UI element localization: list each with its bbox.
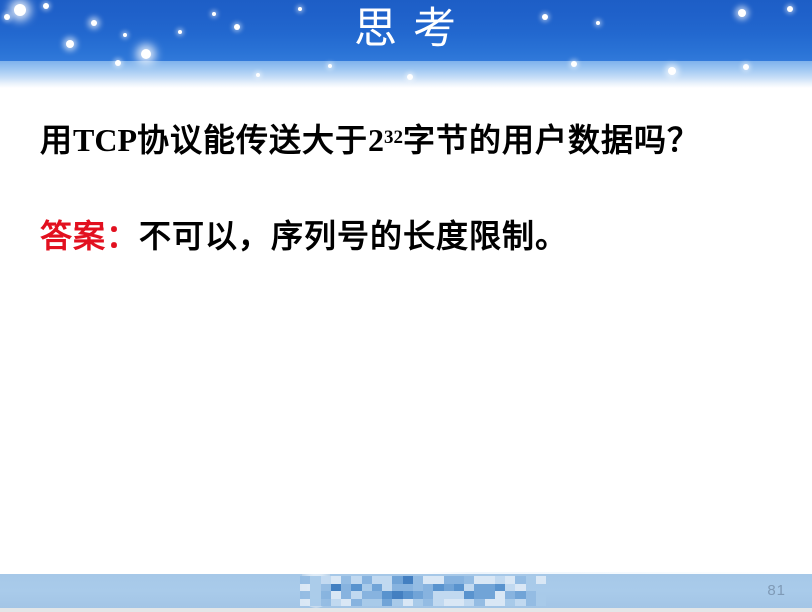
mosaic-pixel bbox=[413, 599, 423, 607]
mosaic-pixel bbox=[310, 576, 320, 584]
mosaic-pixel bbox=[341, 584, 351, 592]
mosaic-pixel bbox=[372, 599, 382, 607]
presentation-slide: 思 考 用TCP协议能传送大于232字节的用户数据吗？ 答案：不可以，序列号的长… bbox=[0, 0, 812, 612]
mosaic-pixel bbox=[403, 576, 413, 584]
mosaic-pixel bbox=[495, 576, 505, 584]
mosaic-pixel bbox=[454, 576, 464, 584]
mosaic-pixel bbox=[341, 576, 351, 584]
mosaic-pixel bbox=[351, 576, 361, 584]
answer-label: 答案： bbox=[40, 218, 139, 254]
mosaic-pixel bbox=[331, 584, 341, 592]
mosaic-pixel bbox=[351, 584, 361, 592]
mosaic-pixel bbox=[464, 576, 474, 584]
mosaic-pixel bbox=[392, 591, 402, 599]
mosaic-pixel bbox=[351, 599, 361, 607]
question-exponent: 32 bbox=[384, 127, 403, 148]
mosaic-pixel bbox=[454, 591, 464, 599]
mosaic-pixel bbox=[474, 591, 484, 599]
mosaic-pixel bbox=[454, 599, 464, 607]
mosaic-pixel bbox=[526, 576, 536, 584]
mosaic-pixel bbox=[372, 576, 382, 584]
mosaic-pixel bbox=[505, 584, 515, 592]
mosaic-pixel bbox=[474, 599, 484, 607]
slide-title-banner: 思 考 bbox=[0, 0, 812, 88]
mosaic-pixel bbox=[495, 599, 505, 607]
mosaic-pixel bbox=[392, 584, 402, 592]
mosaic-pixel bbox=[536, 576, 546, 584]
mosaic-pixel bbox=[433, 591, 443, 599]
mosaic-pixel bbox=[392, 599, 402, 607]
mosaic-pixel bbox=[321, 591, 331, 599]
mosaic-pixel bbox=[321, 599, 331, 607]
mosaic-pixel bbox=[423, 576, 433, 584]
page-number: 81 bbox=[767, 582, 786, 600]
mosaic-pixel bbox=[331, 599, 341, 607]
mosaic-pixel bbox=[526, 591, 536, 599]
mosaic-pixel bbox=[300, 591, 310, 599]
mosaic-pixel bbox=[372, 584, 382, 592]
mosaic-pixel bbox=[341, 591, 351, 599]
mosaic-pixel bbox=[362, 576, 372, 584]
mosaic-pixel bbox=[392, 576, 402, 584]
mosaic-pixel bbox=[433, 599, 443, 607]
mosaic-pixel bbox=[413, 591, 423, 599]
question-protocol-name: TCP bbox=[73, 122, 137, 158]
mosaic-pixel bbox=[495, 584, 505, 592]
mosaic-pixel bbox=[526, 584, 536, 592]
mosaic-pixel bbox=[444, 584, 454, 592]
mosaic-pixel bbox=[310, 599, 320, 607]
mosaic-pixel bbox=[515, 591, 525, 599]
mosaic-pixel bbox=[505, 599, 515, 607]
mosaic-pixel bbox=[382, 576, 392, 584]
mosaic-pixel bbox=[444, 599, 454, 607]
footer-redacted-branding bbox=[300, 576, 546, 606]
question-base-number: 2 bbox=[368, 122, 384, 158]
mosaic-pixel bbox=[300, 599, 310, 607]
mosaic-pixel bbox=[382, 599, 392, 607]
mosaic-pixel bbox=[485, 591, 495, 599]
mosaic-pixel bbox=[310, 584, 320, 592]
mosaic-pixel bbox=[362, 599, 372, 607]
mosaic-pixel bbox=[505, 591, 515, 599]
mosaic-pixel bbox=[433, 576, 443, 584]
mosaic-pixel bbox=[300, 576, 310, 584]
mosaic-pixel bbox=[464, 591, 474, 599]
banner-horizon-haze bbox=[0, 61, 812, 88]
mosaic-pixel bbox=[536, 591, 546, 599]
mosaic-pixel bbox=[464, 584, 474, 592]
mosaic-pixel bbox=[362, 584, 372, 592]
slide-body: 用TCP协议能传送大于232字节的用户数据吗？ 答案：不可以，序列号的长度限制。 bbox=[0, 88, 812, 574]
mosaic-pixel bbox=[474, 576, 484, 584]
mosaic-pixel bbox=[382, 591, 392, 599]
mosaic-pixel bbox=[310, 591, 320, 599]
mosaic-pixel bbox=[423, 591, 433, 599]
mosaic-pixel bbox=[321, 584, 331, 592]
mosaic-pixel bbox=[362, 591, 372, 599]
mosaic-pixel bbox=[413, 576, 423, 584]
mosaic-pixel bbox=[485, 576, 495, 584]
question-suffix-cjk: 字节的用户数据吗？ bbox=[403, 122, 700, 158]
mosaic-pixel bbox=[331, 591, 341, 599]
mosaic-pixel bbox=[413, 584, 423, 592]
answer-text: 不可以，序列号的长度限制。 bbox=[139, 218, 568, 254]
mosaic-pixel bbox=[474, 584, 484, 592]
mosaic-pixel bbox=[341, 599, 351, 607]
question-line: 用TCP协议能传送大于232字节的用户数据吗？ bbox=[40, 118, 700, 160]
mosaic-pixel bbox=[505, 576, 515, 584]
mosaic-pixel bbox=[423, 599, 433, 607]
mosaic-pixel bbox=[536, 584, 546, 592]
mosaic-pixel bbox=[403, 599, 413, 607]
question-middle-cjk: 协议能传送大于 bbox=[137, 122, 368, 158]
answer-line: 答案：不可以，序列号的长度限制。 bbox=[40, 216, 568, 256]
mosaic-pixel bbox=[382, 584, 392, 592]
mosaic-pixel bbox=[515, 584, 525, 592]
mosaic-pixel bbox=[321, 576, 331, 584]
question-prefix-cjk: 用 bbox=[40, 122, 73, 158]
mosaic-pixel bbox=[331, 576, 341, 584]
mosaic-pixel bbox=[372, 591, 382, 599]
mosaic-pixel bbox=[485, 599, 495, 607]
mosaic-pixel bbox=[433, 584, 443, 592]
mosaic-pixel bbox=[351, 591, 361, 599]
mosaic-pixel bbox=[454, 584, 464, 592]
mosaic-pixel bbox=[495, 591, 505, 599]
mosaic-pixel bbox=[485, 584, 495, 592]
mosaic-pixel bbox=[423, 584, 433, 592]
mosaic-pixel bbox=[403, 591, 413, 599]
mosaic-pixel bbox=[515, 599, 525, 607]
mosaic-pixel bbox=[444, 576, 454, 584]
mosaic-pixel bbox=[464, 599, 474, 607]
page-title: 思 考 bbox=[0, 3, 812, 55]
mosaic-pixel bbox=[403, 584, 413, 592]
slide-bottom-edge bbox=[0, 608, 812, 612]
mosaic-pixel bbox=[536, 599, 546, 607]
mosaic-pixel bbox=[526, 599, 536, 607]
mosaic-pixel bbox=[444, 591, 454, 599]
mosaic-pixel bbox=[515, 576, 525, 584]
mosaic-pixel bbox=[300, 584, 310, 592]
